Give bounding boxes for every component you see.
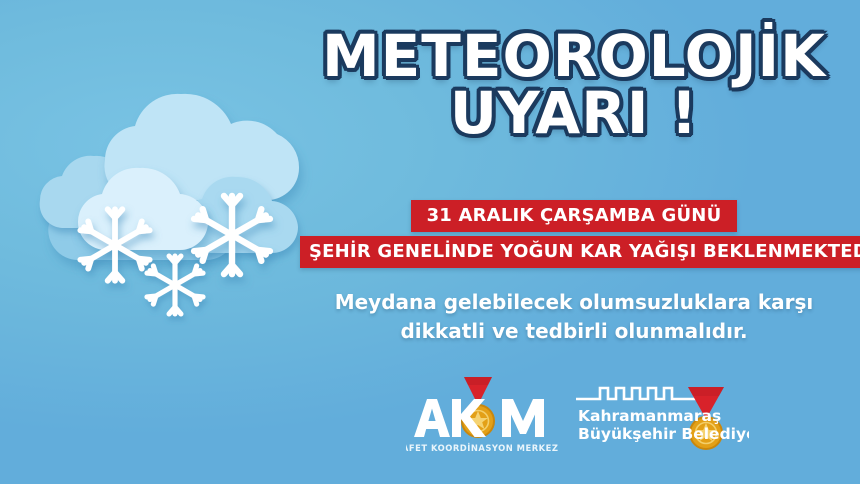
municipality-name-line-1: Kahramanmaraş <box>578 407 721 425</box>
advisory-line-2: dikkatli ve tedbirli olunmalıdır. <box>300 317 848 346</box>
akom-logo: AFET KOORDİNASYON MERKEZİ <box>406 375 558 457</box>
municipality-name-line-2: Büyükşehir Belediyesi <box>578 425 749 443</box>
warning-banner-date: 31 ARALIK ÇARŞAMBA GÜNÜ <box>411 200 738 232</box>
meteorological-warning-poster: METEOROLOJİK UYARI ! 31 ARALIK ÇARŞAMBA … <box>0 0 860 484</box>
akom-subtitle: AFET KOORDİNASYON MERKEZİ <box>406 443 558 453</box>
logo-row: AFET KOORDİNASYON MERKEZİ <box>405 372 750 457</box>
warning-banner-group: 31 ARALIK ÇARŞAMBA GÜNÜ ŞEHİR GENELİNDE … <box>300 200 848 268</box>
banner-row-1: 31 ARALIK ÇARŞAMBA GÜNÜ <box>300 200 848 232</box>
snowflake-bottom <box>147 256 203 314</box>
title-line-1: METEOROLOJİK <box>300 30 848 83</box>
advisory-line-1: Meydana gelebilecek olumsuzluklara karşı <box>300 288 848 317</box>
castle-battlement-icon <box>576 388 698 399</box>
snow-cloud-illustration <box>10 50 320 350</box>
page-title: METEOROLOJİK UYARI ! <box>300 30 848 141</box>
banner-row-2: ŞEHİR GENELİNDE YOĞUN KAR YAĞIŞI BEKLENM… <box>300 236 848 268</box>
title-line-2: UYARI ! <box>300 87 848 140</box>
advisory-text: Meydana gelebilecek olumsuzluklara karşı… <box>300 288 848 346</box>
warning-banner-forecast: ŞEHİR GENELİNDE YOĞUN KAR YAĞIŞI BEKLENM… <box>300 236 860 268</box>
municipality-logo: Kahramanmaraş Büyükşehir Belediyesi <box>574 375 749 457</box>
